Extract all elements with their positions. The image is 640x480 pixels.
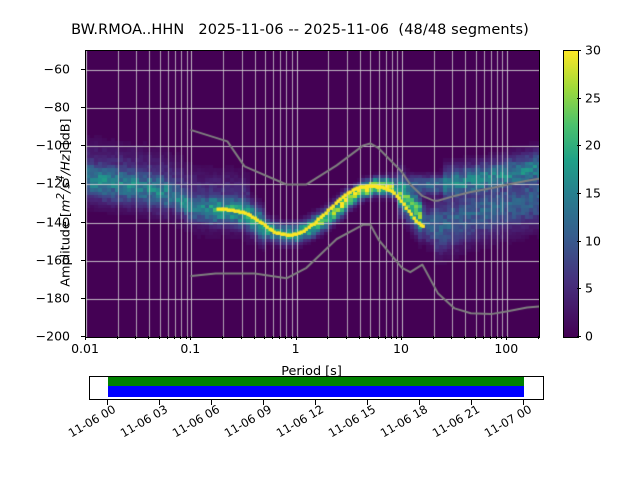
colorbar-tick-label: 15 xyxy=(585,186,601,201)
y-axis-title: Amplitude [m2/s4/Hz] [dB] xyxy=(54,53,73,353)
ppsd-histogram-canvas xyxy=(86,51,539,337)
colorbar-tick-label: 30 xyxy=(585,43,601,58)
colorbar-tick-label: 0 xyxy=(585,329,593,344)
colorbar-tick-label: 25 xyxy=(585,90,601,105)
timeline-gap-band xyxy=(108,386,524,397)
page-title: BW.RMOA..HHN 2025-11-06 -- 2025-11-06 (4… xyxy=(0,22,600,38)
x-tick-label: 0.01 xyxy=(71,341,99,356)
x-tick-label: 10 xyxy=(393,341,409,356)
x-tick-label: 1 xyxy=(292,341,300,356)
timeline-date-label: 11-06 21 xyxy=(423,402,482,444)
timeline-date-label: 11-06 12 xyxy=(267,402,326,444)
timeline-date-label: 11-06 15 xyxy=(319,402,378,444)
ppsd-plot-area[interactable] xyxy=(85,50,540,338)
timeline-date-label: 11-06 03 xyxy=(111,402,170,444)
colorbar-tick-label: 5 xyxy=(585,281,593,296)
x-tick-label: 0.1 xyxy=(180,341,200,356)
timeline-data-band xyxy=(108,377,524,386)
timeline-date-label: 11-06 00 xyxy=(59,402,118,444)
colorbar-tick-label: 20 xyxy=(585,138,601,153)
timeline-date-label: 11-07 00 xyxy=(475,402,534,444)
timeline-date-label: 11-06 18 xyxy=(371,402,430,444)
ppsd-figure: BW.RMOA..HHN 2025-11-06 -- 2025-11-06 (4… xyxy=(0,0,640,480)
timeline-date-label: 11-06 06 xyxy=(163,402,222,444)
colorbar-tick-label: 10 xyxy=(585,233,601,248)
timeline-date-label: 11-06 09 xyxy=(215,402,274,444)
x-tick-label: 100 xyxy=(494,341,518,356)
x-axis-ticklabels: 0.010.1110100 xyxy=(0,341,640,359)
timeline-coverage-axes[interactable] xyxy=(89,376,544,400)
timeline-date-labels: 11-06 0011-06 0311-06 0611-06 0911-06 12… xyxy=(0,402,640,480)
y-axis-title-text: Amplitude [m2/s4/Hz] [dB] xyxy=(59,119,74,287)
